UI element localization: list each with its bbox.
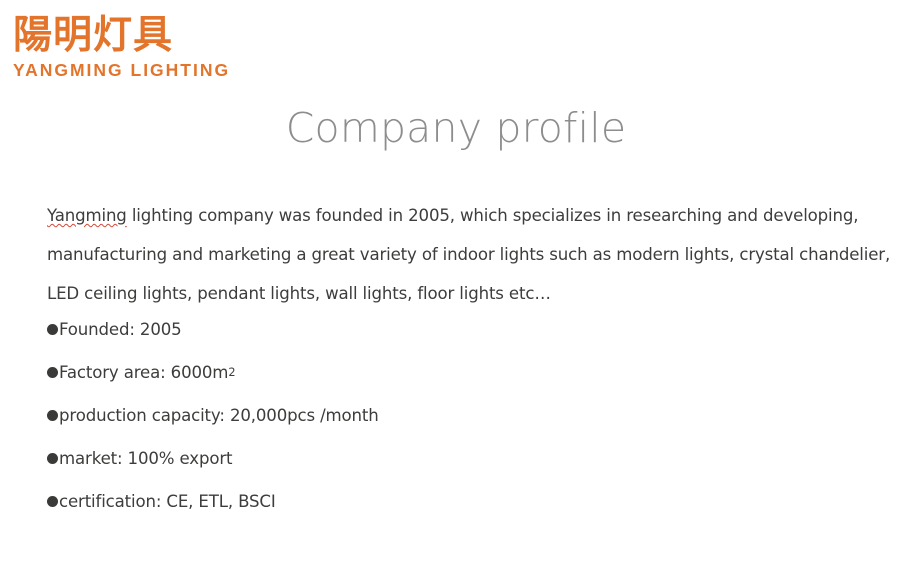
- bullet-dot-icon: [47, 324, 58, 335]
- list-item: certification: CE, ETL, BSCI: [47, 489, 847, 514]
- bullet-dot-icon: [47, 367, 58, 378]
- list-item-label: market: 100% export: [59, 446, 232, 471]
- misspelled-word: Yangming: [47, 206, 127, 225]
- logo-chinese-name: 陽明灯具: [13, 14, 203, 58]
- list-item-label: Factory area: 6000m: [59, 360, 228, 385]
- company-facts-list: Founded: 2005Factory area: 6000m2product…: [47, 317, 847, 532]
- list-item: Factory area: 6000m2: [47, 360, 847, 385]
- list-item: market: 100% export: [47, 446, 847, 471]
- page-title: Company profile: [0, 101, 912, 155]
- list-item-label: Founded: 2005: [59, 317, 182, 342]
- list-item: Founded: 2005: [47, 317, 847, 342]
- intro-paragraph: Yangming lighting company was founded in…: [47, 196, 892, 313]
- company-logo: 陽明灯具 YANGMING LIGHTING: [13, 14, 203, 81]
- logo-english-name: YANGMING LIGHTING: [13, 60, 203, 81]
- bullet-dot-icon: [47, 453, 58, 464]
- intro-paragraph-rest: lighting company was founded in 2005, wh…: [47, 206, 890, 303]
- bullet-dot-icon: [47, 410, 58, 421]
- list-item: production capacity: 20,000pcs /month: [47, 403, 847, 428]
- bullet-dot-icon: [47, 496, 58, 507]
- list-item-label: production capacity: 20,000pcs /month: [59, 403, 379, 428]
- list-item-label: certification: CE, ETL, BSCI: [59, 489, 276, 514]
